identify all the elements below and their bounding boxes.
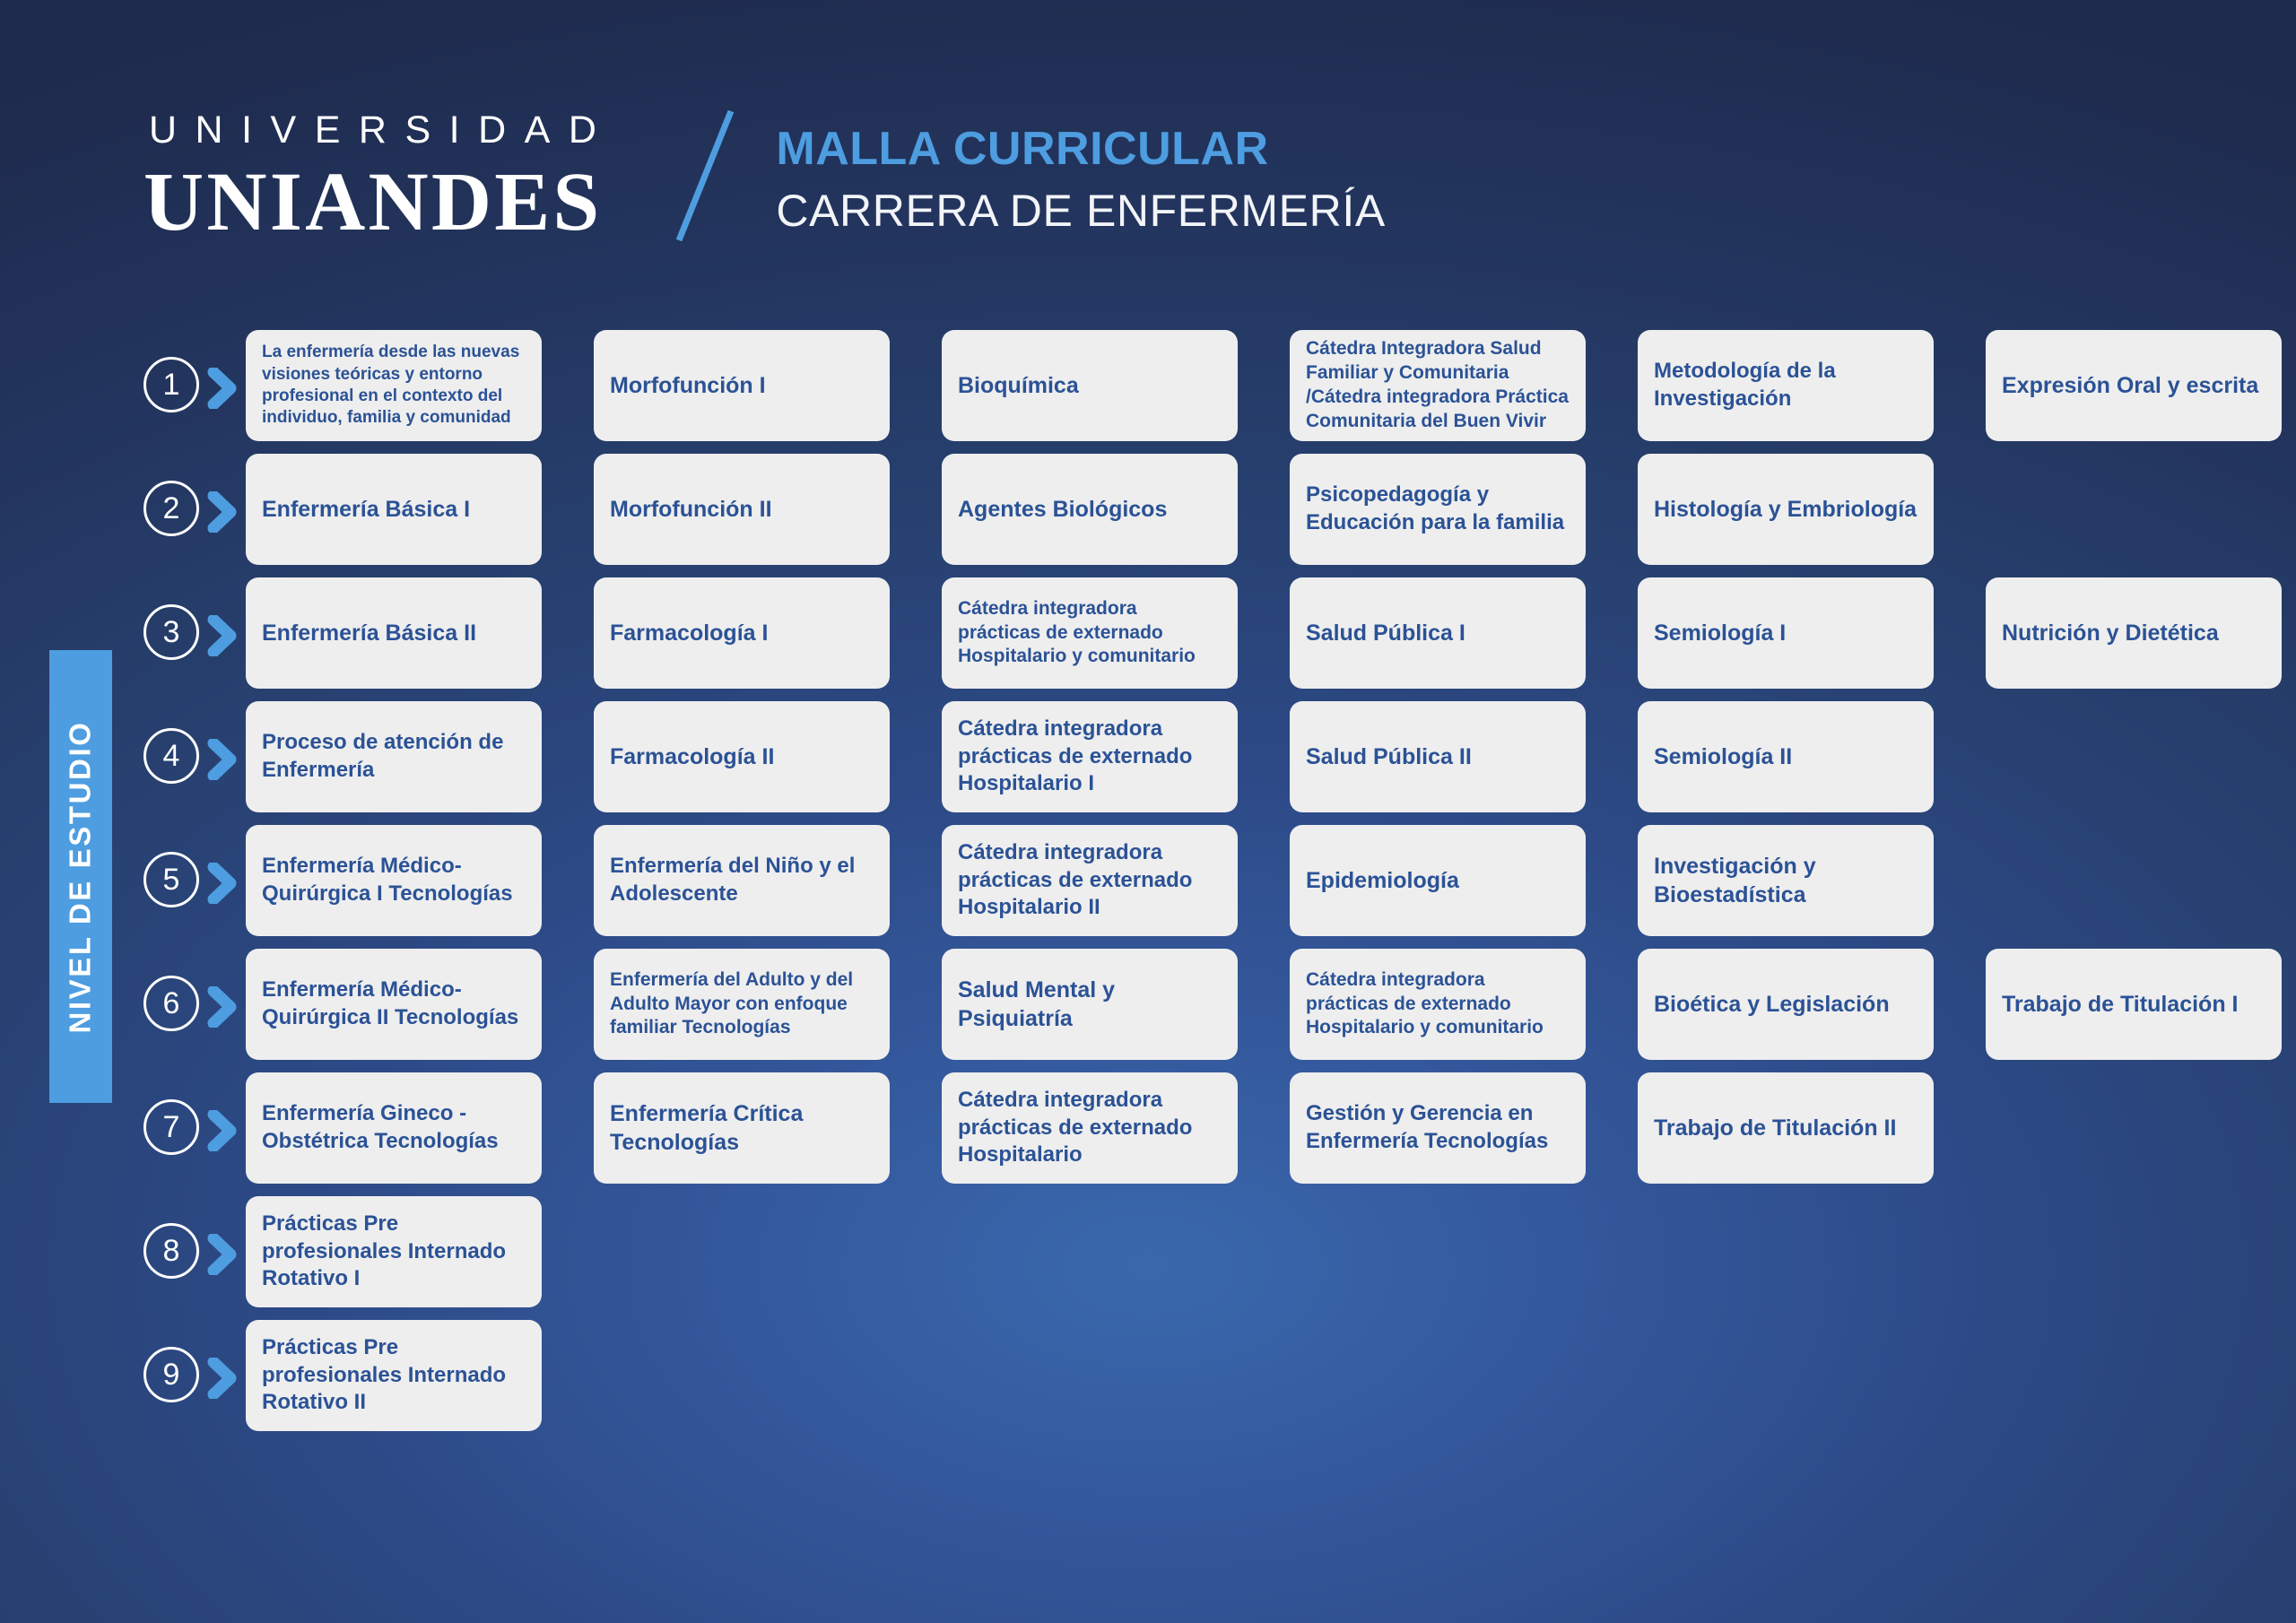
- course-card[interactable]: Trabajo de Titulación II: [1638, 1072, 1934, 1184]
- course-slot: La enfermería desde las nuevas visiones …: [246, 330, 542, 441]
- course-slot-empty: [1638, 1320, 1934, 1431]
- course-card[interactable]: Metodología de la Investigación: [1638, 330, 1934, 441]
- page-header: UNIVERSIDAD UNIANDES MALLA CURRICULAR CA…: [143, 100, 1386, 247]
- level-number-badge: 9: [143, 1347, 199, 1402]
- course-card[interactable]: Salud Pública II: [1290, 701, 1586, 812]
- course-card[interactable]: Gestión y Gerencia en Enfermería Tecnolo…: [1290, 1072, 1586, 1184]
- level-number-badge: 1: [143, 357, 199, 412]
- study-level-axis-label: NIVEL DE ESTUDIO: [64, 720, 98, 1033]
- level-number-badge: 3: [143, 604, 199, 660]
- course-card[interactable]: Semiología II: [1638, 701, 1934, 812]
- course-slot-empty: [1290, 1196, 1586, 1307]
- curriculum-page: UNIVERSIDAD UNIANDES MALLA CURRICULAR CA…: [0, 0, 2296, 1623]
- level-course-list: Enfermería Gineco - Obstétrica Tecnologí…: [246, 1072, 2282, 1184]
- level-row: 4Proceso de atención de EnfermeríaFarmac…: [143, 701, 2197, 812]
- chevron-right-icon: [199, 863, 246, 904]
- level-course-list: Prácticas Pre profesionales Internado Ro…: [246, 1196, 2282, 1307]
- level-course-list: Enfermería Médico-Quirúrgica I Tecnologí…: [246, 825, 2282, 936]
- course-card[interactable]: Enfermería del Niño y el Adolescente: [594, 825, 890, 936]
- course-card-placeholder: [1290, 1320, 1586, 1431]
- course-slot-empty: [1986, 454, 2282, 565]
- course-slot: Semiología II: [1638, 701, 1934, 812]
- course-card-placeholder: [942, 1196, 1238, 1307]
- course-card-placeholder: [594, 1320, 890, 1431]
- course-slot: Semiología I: [1638, 577, 1934, 689]
- course-slot: Farmacología II: [594, 701, 890, 812]
- course-slot: Cátedra Integradora Salud Familiar y Com…: [1290, 330, 1586, 441]
- course-slot: Histología y Embriología: [1638, 454, 1934, 565]
- course-slot: Metodología de la Investigación: [1638, 330, 1934, 441]
- course-card[interactable]: Trabajo de Titulación I: [1986, 949, 2282, 1060]
- course-card[interactable]: Farmacología I: [594, 577, 890, 689]
- level-row: 9Prácticas Pre profesionales Internado R…: [143, 1320, 2197, 1431]
- level-row: 7Enfermería Gineco - Obstétrica Tecnolog…: [143, 1072, 2197, 1184]
- chevron-right-icon: [199, 739, 246, 780]
- level-course-list: La enfermería desde las nuevas visiones …: [246, 330, 2282, 441]
- course-card[interactable]: Bioquímica: [942, 330, 1238, 441]
- course-slot: Bioética y Legislación: [1638, 949, 1934, 1060]
- course-slot-empty: [942, 1320, 1238, 1431]
- chevron-right-icon: [199, 1110, 246, 1151]
- level-row: 8Prácticas Pre profesionales Internado R…: [143, 1196, 2197, 1307]
- chevron-right-icon: [199, 615, 246, 656]
- course-slot: Enfermería del Adulto y del Adulto Mayor…: [594, 949, 890, 1060]
- course-slot: Enfermería Médico-Quirúrgica I Tecnologí…: [246, 825, 542, 936]
- course-slot: Prácticas Pre profesionales Internado Ro…: [246, 1196, 542, 1307]
- course-slot-empty: [1986, 825, 2282, 936]
- course-slot: Cátedra integradora prácticas de externa…: [942, 701, 1238, 812]
- course-card[interactable]: Salud Pública I: [1290, 577, 1586, 689]
- level-row: 6Enfermería Médico-Quirúrgica II Tecnolo…: [143, 949, 2197, 1060]
- course-slot: Bioquímica: [942, 330, 1238, 441]
- course-slot: Trabajo de Titulación I: [1986, 949, 2282, 1060]
- level-number-badge: 2: [143, 481, 199, 536]
- course-card[interactable]: Agentes Biológicos: [942, 454, 1238, 565]
- course-card[interactable]: Farmacología II: [594, 701, 890, 812]
- course-card[interactable]: Proceso de atención de Enfermería: [246, 701, 542, 812]
- level-number-badge: 6: [143, 976, 199, 1031]
- course-card-placeholder: [1638, 1320, 1934, 1431]
- course-slot-empty: [1638, 1196, 1934, 1307]
- course-slot: Enfermería del Niño y el Adolescente: [594, 825, 890, 936]
- level-course-list: Proceso de atención de EnfermeríaFarmaco…: [246, 701, 2282, 812]
- course-card[interactable]: Cátedra integradora prácticas de externa…: [942, 701, 1238, 812]
- course-card[interactable]: Cátedra integradora prácticas de externa…: [942, 825, 1238, 936]
- course-card[interactable]: Expresión Oral y escrita: [1986, 330, 2282, 441]
- level-row: 3Enfermería Básica IIFarmacología ICáted…: [143, 577, 2197, 689]
- curriculum-grid: 1La enfermería desde las nuevas visiones…: [143, 330, 2197, 1444]
- course-slot: Salud Pública II: [1290, 701, 1586, 812]
- course-card[interactable]: Morfofunción I: [594, 330, 890, 441]
- course-slot: Investigación y Bioestadística: [1638, 825, 1934, 936]
- course-card[interactable]: Enfermería Básica II: [246, 577, 542, 689]
- chevron-right-icon: [199, 1358, 246, 1399]
- course-card[interactable]: Enfermería Crítica Tecnologías: [594, 1072, 890, 1184]
- course-slot: Cátedra integradora prácticas de externa…: [942, 577, 1238, 689]
- university-logo: UNIVERSIDAD UNIANDES: [143, 102, 614, 247]
- course-slot: Salud Mental y Psiquiatría: [942, 949, 1238, 1060]
- course-card-placeholder: [942, 1320, 1238, 1431]
- course-slot: Salud Pública I: [1290, 577, 1586, 689]
- course-card[interactable]: Bioética y Legislación: [1638, 949, 1934, 1060]
- course-slot: Cátedra integradora prácticas de externa…: [942, 825, 1238, 936]
- level-number-badge: 4: [143, 728, 199, 784]
- course-slot-empty: [1986, 701, 2282, 812]
- course-slot-empty: [594, 1320, 890, 1431]
- course-card[interactable]: Enfermería Médico-Quirúrgica II Tecnolog…: [246, 949, 542, 1060]
- course-card-placeholder: [1638, 1196, 1934, 1307]
- course-card[interactable]: Enfermería Gineco - Obstétrica Tecnologí…: [246, 1072, 542, 1184]
- chevron-right-icon: [199, 368, 246, 409]
- course-slot: Morfofunción II: [594, 454, 890, 565]
- course-slot: Agentes Biológicos: [942, 454, 1238, 565]
- course-card[interactable]: Cátedra integradora prácticas de externa…: [942, 577, 1238, 689]
- brand-top-label: UNIVERSIDAD: [143, 111, 614, 150]
- course-card[interactable]: Cátedra integradora prácticas de externa…: [1290, 949, 1586, 1060]
- page-title: MALLA CURRICULAR: [776, 123, 1385, 177]
- course-card[interactable]: Enfermería Médico-Quirúrgica I Tecnologí…: [246, 825, 542, 936]
- course-slot: Trabajo de Titulación II: [1638, 1072, 1934, 1184]
- course-slot-empty: [1986, 1072, 2282, 1184]
- brand-name-label: UNIANDES: [143, 159, 614, 247]
- level-row: 2Enfermería Básica IMorfofunción IIAgent…: [143, 454, 2197, 565]
- course-slot: Cátedra integradora prácticas de externa…: [942, 1072, 1238, 1184]
- page-title-group: MALLA CURRICULAR CARRERA DE ENFERMERÍA: [776, 110, 1385, 238]
- level-row: 1La enfermería desde las nuevas visiones…: [143, 330, 2197, 441]
- course-slot: Prácticas Pre profesionales Internado Ro…: [246, 1320, 542, 1431]
- level-number-badge: 5: [143, 852, 199, 907]
- course-card[interactable]: Cátedra integradora prácticas de externa…: [942, 1072, 1238, 1184]
- course-card-placeholder: [1986, 1320, 2282, 1431]
- course-slot: Expresión Oral y escrita: [1986, 330, 2282, 441]
- course-slot: Farmacología I: [594, 577, 890, 689]
- course-slot-empty: [1290, 1320, 1586, 1431]
- course-card-placeholder: [1986, 1196, 2282, 1307]
- slash-divider-icon: [665, 104, 751, 247]
- course-card-placeholder: [1986, 454, 2282, 565]
- course-card-placeholder: [1290, 1196, 1586, 1307]
- course-card-placeholder: [1986, 825, 2282, 936]
- course-slot: Enfermería Crítica Tecnologías: [594, 1072, 890, 1184]
- level-course-list: Prácticas Pre profesionales Internado Ro…: [246, 1320, 2282, 1431]
- course-card-placeholder: [594, 1196, 890, 1307]
- course-card-placeholder: [1986, 701, 2282, 812]
- course-card-placeholder: [1986, 1072, 2282, 1184]
- chevron-right-icon: [199, 986, 246, 1028]
- course-slot-empty: [942, 1196, 1238, 1307]
- level-course-list: Enfermería Básica IMorfofunción IIAgente…: [246, 454, 2282, 565]
- level-row: 5Enfermería Médico-Quirúrgica I Tecnolog…: [143, 825, 2197, 936]
- course-card[interactable]: Psicopedagogía y Educación para la famil…: [1290, 454, 1586, 565]
- course-slot: Enfermería Gineco - Obstétrica Tecnologí…: [246, 1072, 542, 1184]
- course-card[interactable]: Investigación y Bioestadística: [1638, 825, 1934, 936]
- course-card[interactable]: La enfermería desde las nuevas visiones …: [246, 330, 542, 441]
- course-card[interactable]: Salud Mental y Psiquiatría: [942, 949, 1238, 1060]
- course-card[interactable]: Prácticas Pre profesionales Internado Ro…: [246, 1196, 542, 1307]
- course-card[interactable]: Semiología I: [1638, 577, 1934, 689]
- level-course-list: Enfermería Médico-Quirúrgica II Tecnolog…: [246, 949, 2282, 1060]
- course-slot: Proceso de atención de Enfermería: [246, 701, 542, 812]
- course-card[interactable]: Cátedra Integradora Salud Familiar y Com…: [1290, 330, 1586, 441]
- level-number-badge: 7: [143, 1099, 199, 1155]
- page-subtitle: CARRERA DE ENFERMERÍA: [776, 184, 1385, 238]
- level-number-badge: 8: [143, 1223, 199, 1279]
- course-slot: Enfermería Médico-Quirúrgica II Tecnolog…: [246, 949, 542, 1060]
- course-card[interactable]: Enfermería Básica I: [246, 454, 542, 565]
- course-slot-empty: [1986, 1196, 2282, 1307]
- course-slot: Cátedra integradora prácticas de externa…: [1290, 949, 1586, 1060]
- course-slot: Morfofunción I: [594, 330, 890, 441]
- course-slot: Gestión y Gerencia en Enfermería Tecnolo…: [1290, 1072, 1586, 1184]
- course-slot: Enfermería Básica II: [246, 577, 542, 689]
- study-level-axis-bar: NIVEL DE ESTUDIO: [49, 650, 112, 1103]
- course-card[interactable]: Nutrición y Dietética: [1986, 577, 2282, 689]
- course-slot-empty: [1986, 1320, 2282, 1431]
- level-course-list: Enfermería Básica IIFarmacología ICátedr…: [246, 577, 2282, 689]
- course-slot-empty: [594, 1196, 890, 1307]
- chevron-right-icon: [199, 1234, 246, 1275]
- course-card[interactable]: Epidemiología: [1290, 825, 1586, 936]
- course-card[interactable]: Enfermería del Adulto y del Adulto Mayor…: [594, 949, 890, 1060]
- chevron-right-icon: [199, 491, 246, 533]
- course-card[interactable]: Morfofunción II: [594, 454, 890, 565]
- course-slot: Enfermería Básica I: [246, 454, 542, 565]
- course-slot: Psicopedagogía y Educación para la famil…: [1290, 454, 1586, 565]
- course-card[interactable]: Histología y Embriología: [1638, 454, 1934, 565]
- course-slot: Nutrición y Dietética: [1986, 577, 2282, 689]
- course-slot: Epidemiología: [1290, 825, 1586, 936]
- course-card[interactable]: Prácticas Pre profesionales Internado Ro…: [246, 1320, 542, 1431]
